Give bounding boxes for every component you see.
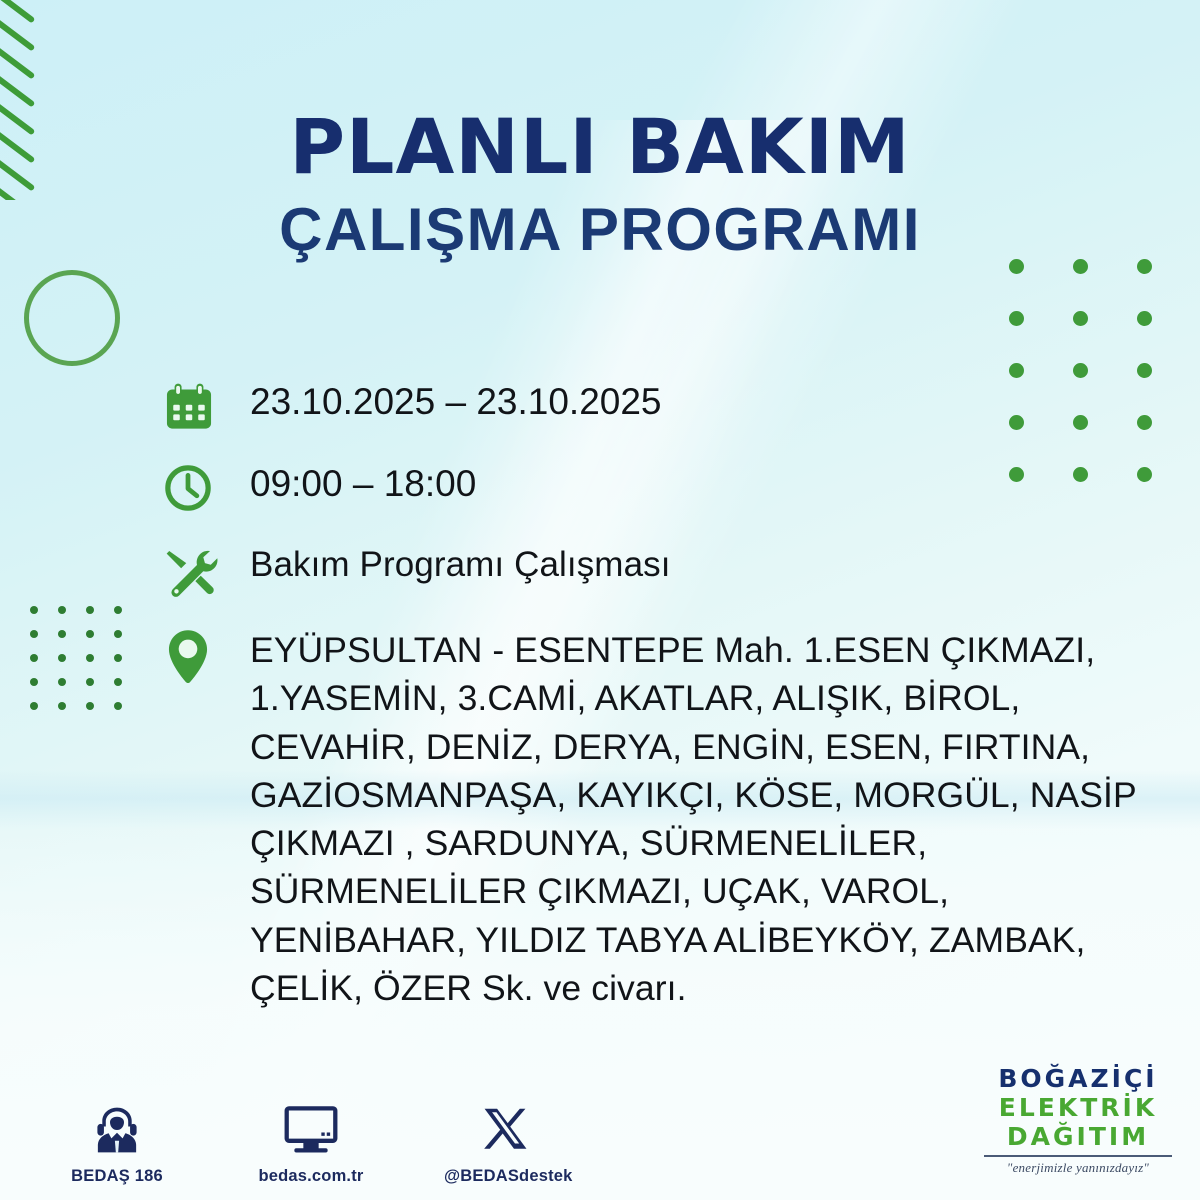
work-type-value: Bakım Programı Çalışması bbox=[250, 542, 671, 588]
x-twitter-icon bbox=[444, 1099, 566, 1161]
location-value: EYÜPSULTAN - ESENTEPE Mah. 1.ESEN ÇIKMAZ… bbox=[250, 626, 1172, 1012]
brand-line-3: DAĞITIM bbox=[978, 1122, 1178, 1151]
poster-canvas: PLANLI BAKIM ÇALIŞMA PROGRAMI bbox=[0, 0, 1200, 1200]
detail-row-work-type: Bakım Programı Çalışması bbox=[162, 542, 1172, 600]
circle-outline-decoration bbox=[24, 270, 120, 366]
brand-tagline: "enerjimizle yanınızdayız" bbox=[978, 1160, 1178, 1176]
headset-support-icon bbox=[56, 1099, 178, 1161]
contact-phone-label: BEDAŞ 186 bbox=[56, 1167, 178, 1186]
contact-x-twitter[interactable]: @BEDASdestek bbox=[444, 1099, 566, 1186]
contact-phone[interactable]: BEDAŞ 186 bbox=[56, 1099, 178, 1186]
brand-logo: BOĞAZİÇİ ELEKTRİK DAĞITIM "enerjimizle y… bbox=[978, 1064, 1178, 1176]
detail-row-date: 23.10.2025 – 23.10.2025 bbox=[162, 378, 1172, 434]
calendar-icon bbox=[162, 378, 250, 434]
monitor-website-icon bbox=[250, 1099, 372, 1161]
dot-grid-left-decoration bbox=[20, 598, 132, 718]
brand-line-1: BOĞAZİÇİ bbox=[978, 1064, 1178, 1093]
poster-header: PLANLI BAKIM ÇALIŞMA PROGRAMI bbox=[0, 108, 1200, 267]
brand-line-2: ELEKTRİK bbox=[978, 1093, 1178, 1122]
contact-website[interactable]: bedas.com.tr bbox=[250, 1099, 372, 1186]
contact-website-label: bedas.com.tr bbox=[250, 1167, 372, 1186]
page-title-secondary: ÇALIŞMA PROGRAMI bbox=[0, 192, 1200, 267]
detail-row-time: 09:00 – 18:00 bbox=[162, 460, 1172, 514]
contact-x-label: @BEDASdestek bbox=[444, 1167, 566, 1186]
page-title-primary: PLANLI BAKIM bbox=[0, 108, 1200, 186]
clock-icon bbox=[162, 460, 250, 514]
date-range-value: 23.10.2025 – 23.10.2025 bbox=[250, 378, 662, 426]
tools-icon bbox=[162, 542, 250, 600]
detail-row-location: EYÜPSULTAN - ESENTEPE Mah. 1.ESEN ÇIKMAZ… bbox=[162, 626, 1172, 1012]
brand-divider bbox=[984, 1155, 1172, 1157]
footer-contacts: BEDAŞ 186 bedas.com.tr bbox=[56, 1099, 566, 1186]
time-range-value: 09:00 – 18:00 bbox=[250, 460, 476, 508]
location-pin-icon bbox=[162, 626, 250, 686]
outage-details: 23.10.2025 – 23.10.2025 09:00 – 18:00 bbox=[162, 378, 1172, 1026]
